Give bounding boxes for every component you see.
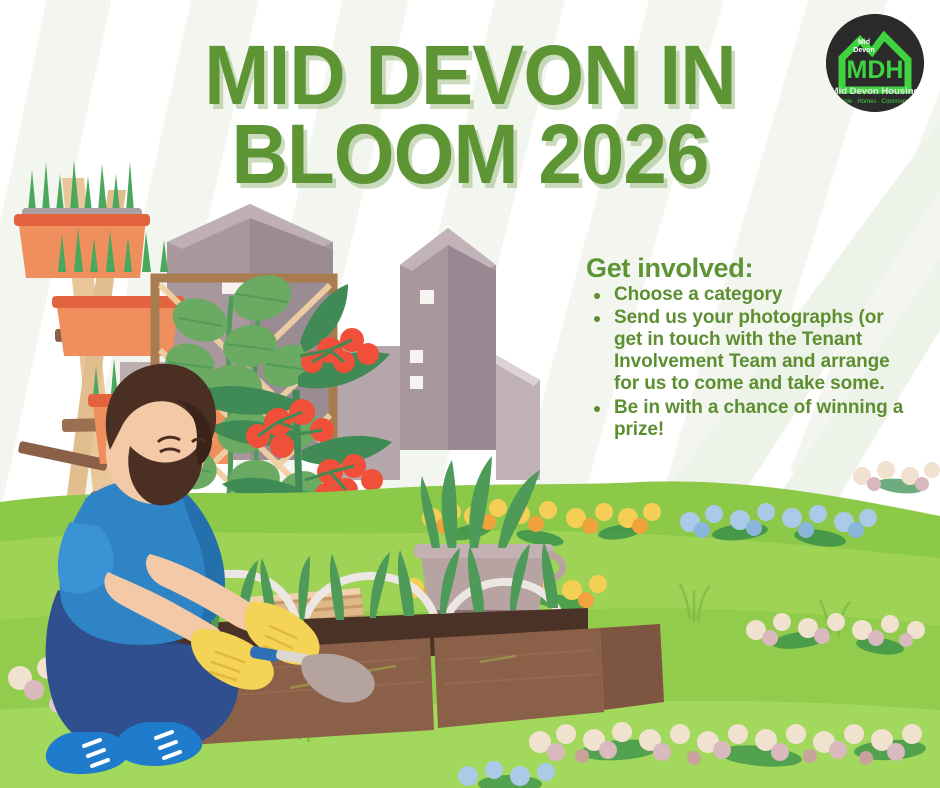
logo-org-name: Mid Devon Housing (831, 86, 920, 97)
list-item: Choose a category (586, 284, 916, 306)
bullet-icon (594, 293, 600, 299)
get-involved-block: Get involved: Choose a category Send us … (586, 254, 916, 442)
bullet-icon (594, 316, 600, 322)
list-item-text: Send us your photographs (or get in touc… (614, 307, 890, 394)
list-item: Be in with a chance of winning a prize! (586, 397, 916, 441)
logo-house-label-line1: Mid (858, 39, 870, 46)
logo-house-label-line2: Devon (853, 47, 874, 54)
get-involved-heading: Get involved: (586, 254, 916, 282)
garden-illustration: tomato (0, 150, 940, 788)
list-item: Send us your photographs (or get in touc… (586, 307, 916, 395)
logo-monogram: MDH (847, 56, 904, 84)
list-item-text: Be in with a chance of winning a prize! (614, 397, 903, 440)
list-item-text: Choose a category (614, 284, 782, 305)
poster-canvas: tomato (0, 0, 940, 788)
get-involved-list: Choose a category Send us your photograp… (586, 284, 916, 440)
mid-devon-housing-logo: Mid Devon MDH Mid Devon Housing People ·… (826, 14, 924, 112)
logo-svg: Mid Devon MDH Mid Devon Housing People ·… (826, 14, 924, 112)
bullet-icon (594, 406, 600, 412)
